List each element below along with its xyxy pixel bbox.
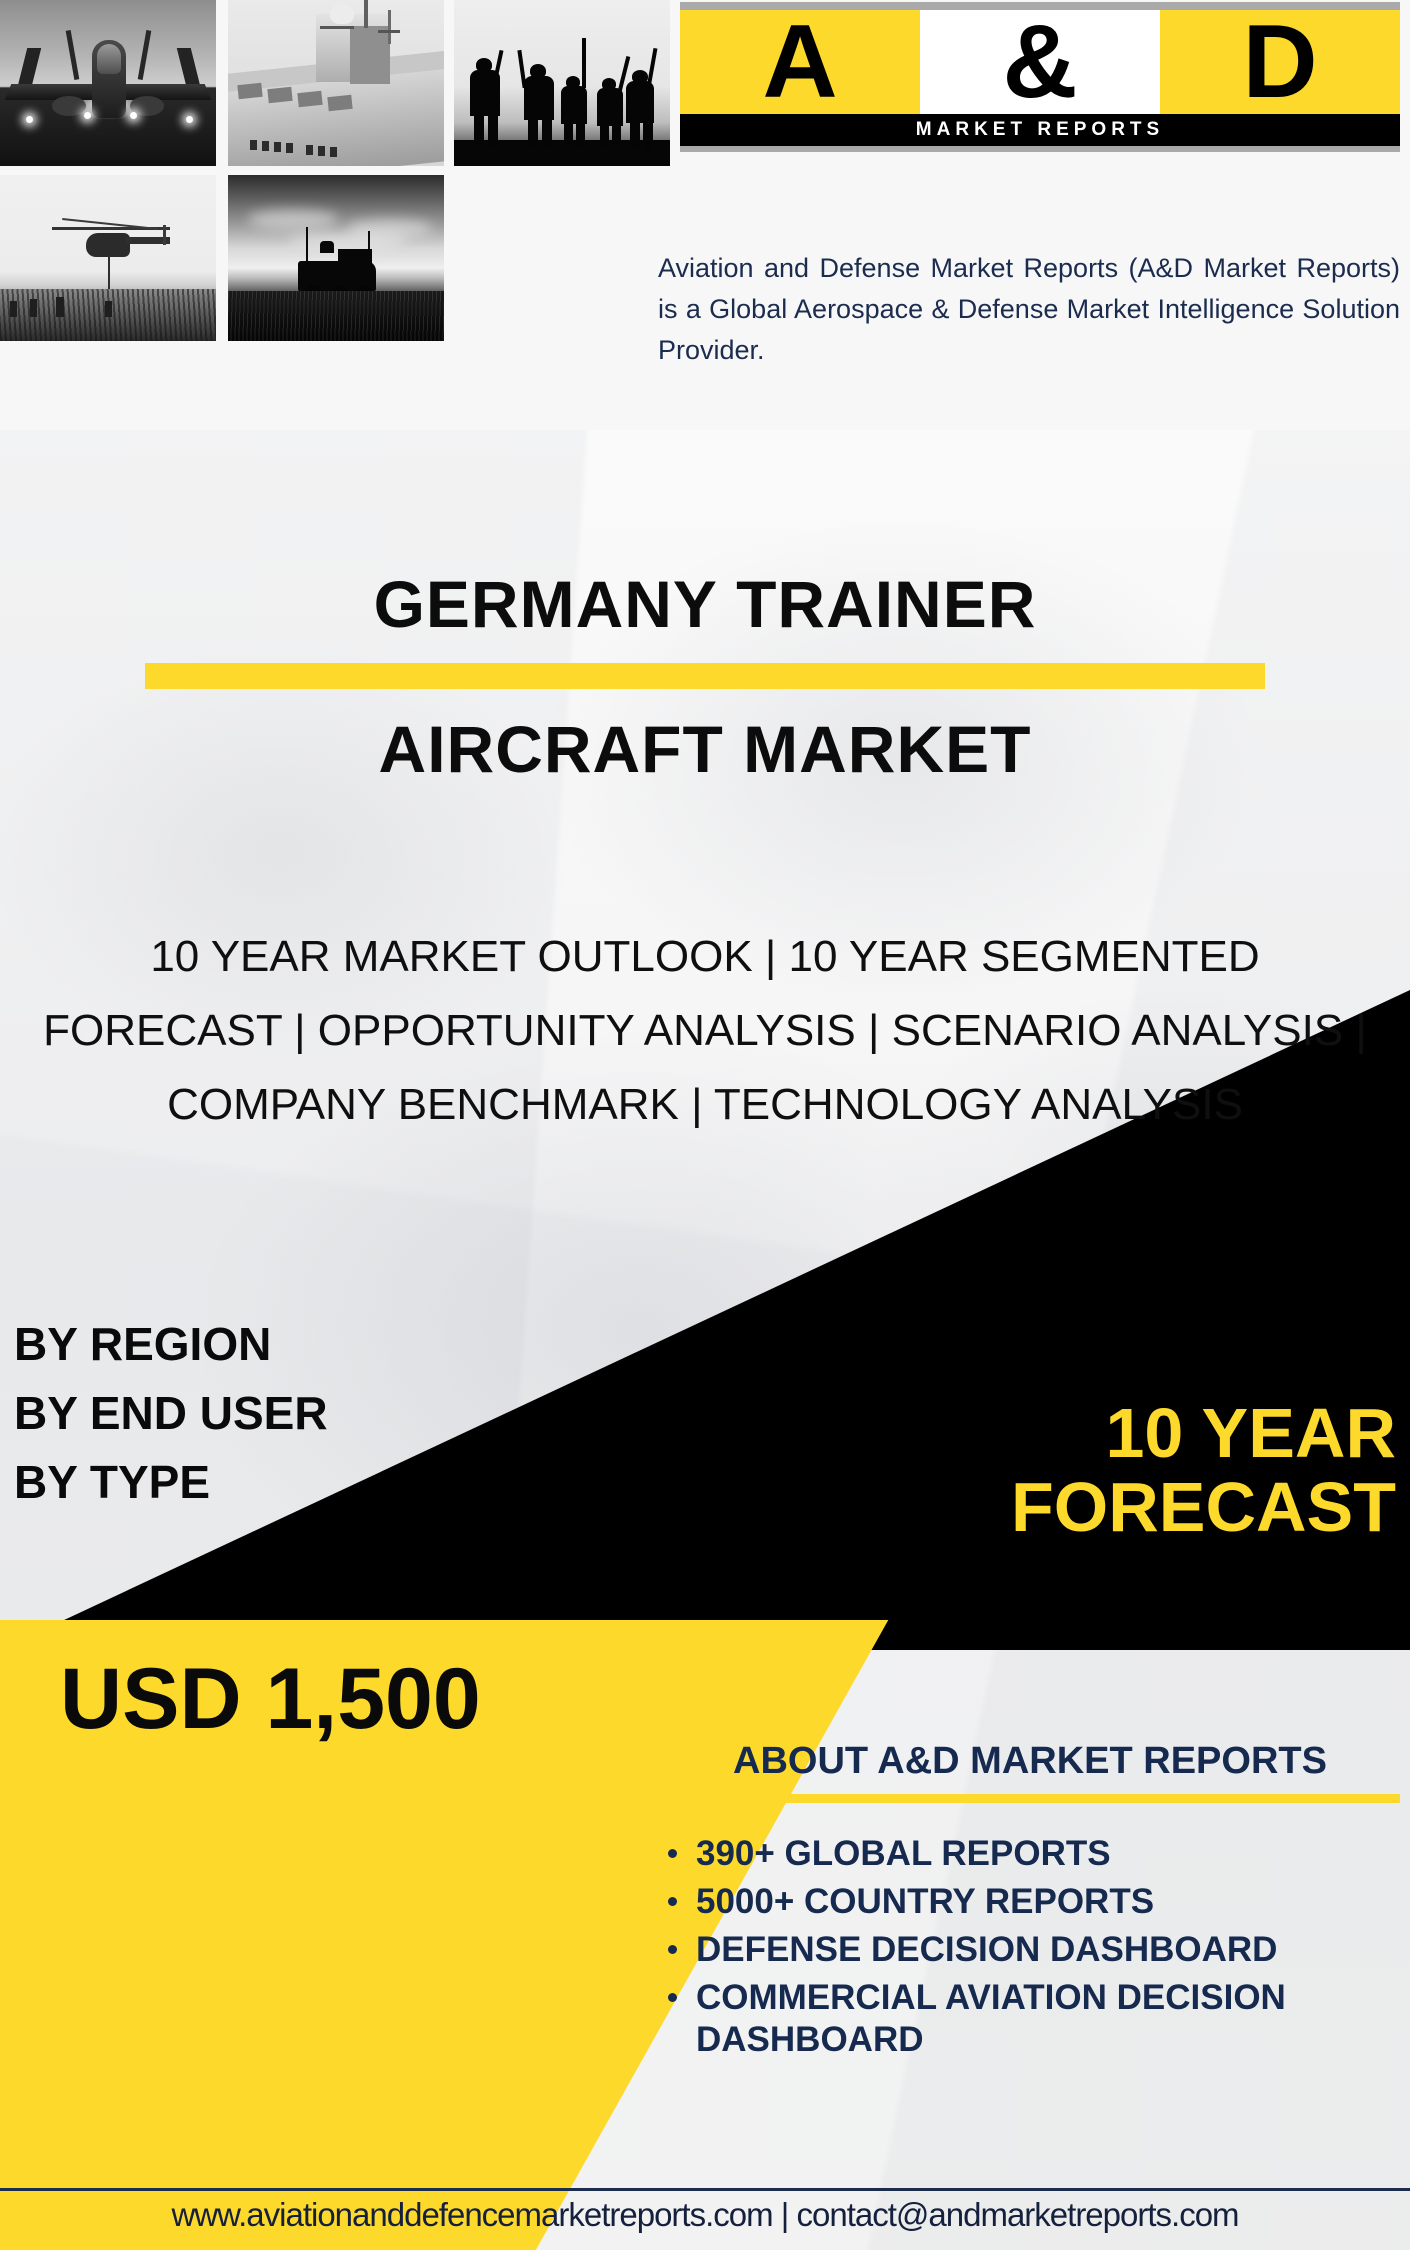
forecast-badge: 10 YEAR FORECAST — [676, 1396, 1396, 1544]
about-title: ABOUT A&D MARKET REPORTS — [660, 1740, 1400, 1784]
list-item: 5000+ COUNTRY REPORTS — [660, 1881, 1400, 1923]
page-title-line1: GERMANY TRAINER — [0, 570, 1410, 639]
segmentation-list: BY REGION BY END USER BY TYPE — [14, 1310, 328, 1517]
photo-aircraft-carrier-island — [228, 0, 444, 166]
photo-soldier-silhouettes — [454, 0, 670, 166]
photo-fighter-jet-on-carrier-deck — [0, 0, 216, 166]
brand-logo: A & D MARKET REPORTS — [680, 2, 1400, 152]
title-divider — [145, 663, 1265, 689]
logo-bottom-rule — [680, 146, 1400, 152]
page-title-line2: AIRCRAFT MARKET — [0, 715, 1410, 784]
forecast-badge-line1: 10 YEAR — [676, 1396, 1396, 1470]
logo-letter-d: D — [1160, 10, 1400, 114]
logo-letter-tiles: A & D — [680, 10, 1400, 114]
logo-subtitle: MARKET REPORTS — [916, 119, 1164, 141]
footer-divider — [0, 2188, 1410, 2191]
photo-armored-vehicle-at-dusk — [228, 175, 444, 341]
footer-contact: www.aviationanddefencemarketreports.com … — [0, 2196, 1410, 2234]
photo-helicopter-fast-rope — [0, 175, 216, 341]
segment-item-end-user: BY END USER — [14, 1379, 328, 1448]
list-item: DEFENSE DECISION DASHBOARD — [660, 1929, 1400, 1971]
header-photo-grid: A & D MARKET REPORTS Aviation and Defens… — [0, 0, 1410, 430]
logo-letter-ampersand: & — [920, 10, 1160, 114]
list-item: 390+ GLOBAL REPORTS — [660, 1833, 1400, 1875]
forecast-badge-line2: FORECAST — [676, 1470, 1396, 1544]
report-title: GERMANY TRAINER AIRCRAFT MARKET — [0, 570, 1410, 785]
report-subtitle: 10 YEAR MARKET OUTLOOK | 10 YEAR SEGMENT… — [40, 920, 1370, 1142]
company-description: Aviation and Defense Market Reports (A&D… — [658, 248, 1400, 371]
segment-item-region: BY REGION — [14, 1310, 328, 1379]
about-section: ABOUT A&D MARKET REPORTS 390+ GLOBAL REP… — [660, 1740, 1400, 2067]
price-label: USD 1,500 — [60, 1650, 481, 1749]
list-item: COMMERCIAL AVIATION DECISION DASHBOARD — [660, 1977, 1400, 2061]
about-bullet-list: 390+ GLOBAL REPORTS 5000+ COUNTRY REPORT… — [660, 1833, 1400, 2061]
logo-letter-a: A — [680, 10, 920, 114]
about-divider — [660, 1794, 1400, 1803]
segment-item-type: BY TYPE — [14, 1448, 328, 1517]
logo-subtitle-bar: MARKET REPORTS — [680, 114, 1400, 146]
